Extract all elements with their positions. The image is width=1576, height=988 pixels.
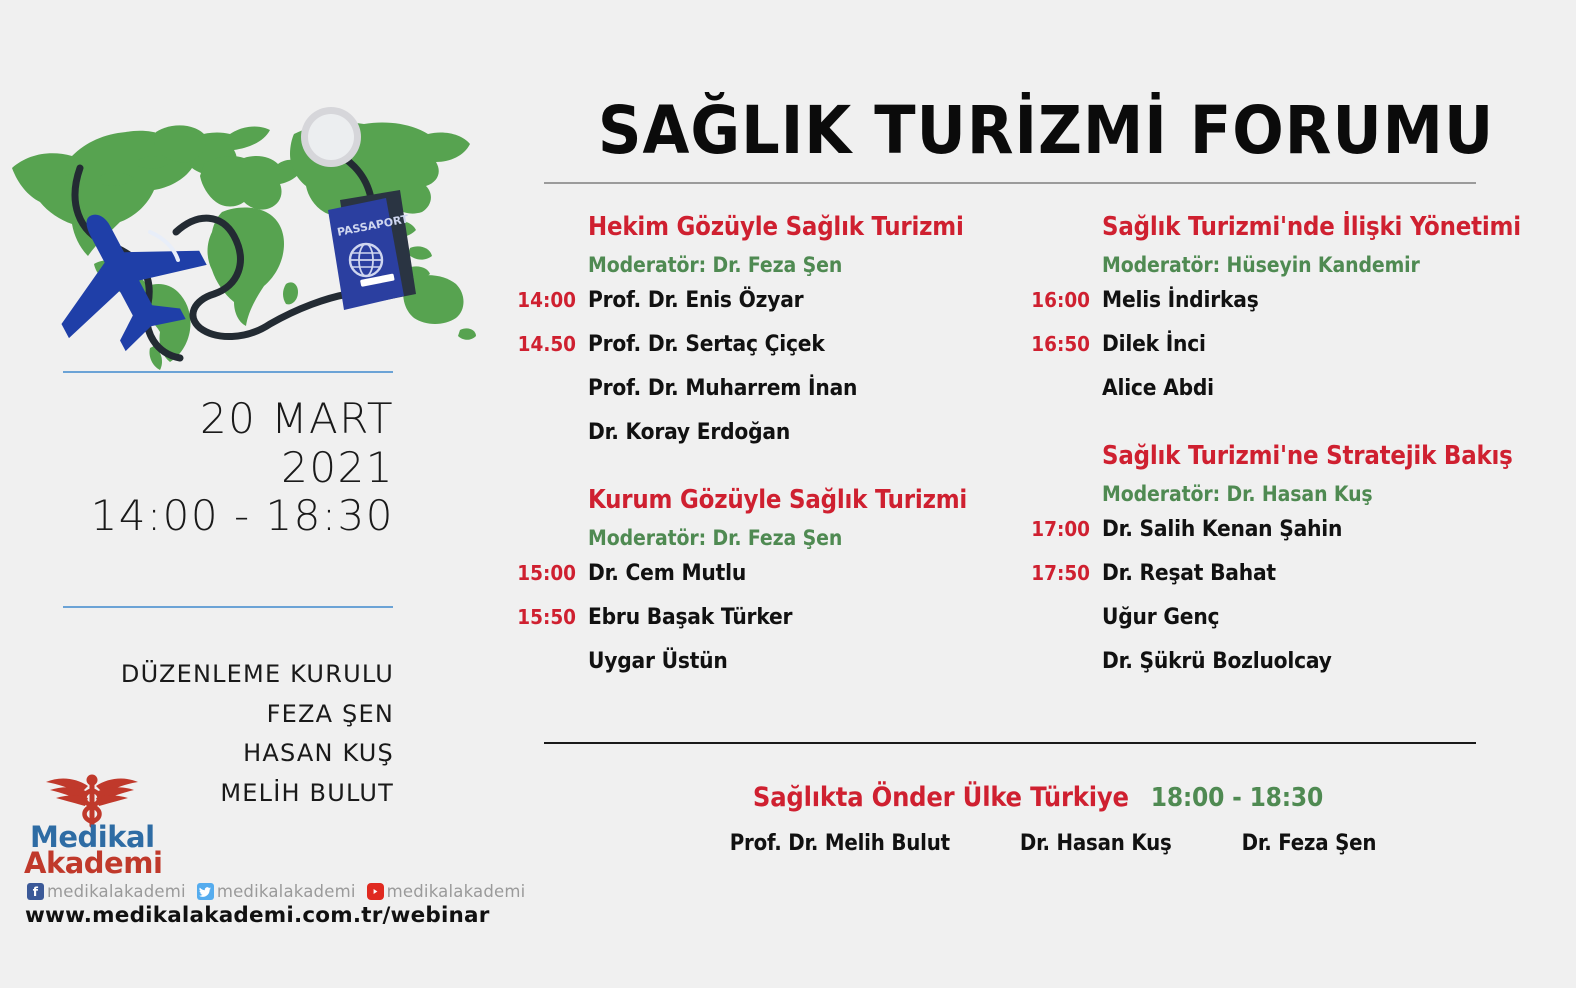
speaker-list: 16:00 Melis İndirkaş 16:50 Dilek İnci Al…: [1028, 287, 1528, 419]
speaker-name: Dr. Şükrü Bozluolcay: [1102, 648, 1332, 674]
speaker-name: Prof. Dr. Sertaç Çiçek: [588, 331, 825, 357]
divider-bottom: [544, 742, 1476, 744]
session-block: Sağlık Turizmi'nde İlişki Yönetimi Moder…: [1028, 212, 1528, 419]
logo-word-akademi: Akademi: [24, 846, 162, 880]
closing-person: Dr. Feza Şen: [1242, 831, 1377, 856]
speaker-name: Prof. Dr. Muharrem İnan: [588, 375, 857, 401]
session-title: Sağlık Turizmi'nde İlişki Yönetimi: [1102, 212, 1528, 244]
speaker-time: 14:00: [514, 288, 588, 312]
speaker-row: 14:00 Prof. Dr. Enis Özyar: [514, 287, 1014, 331]
speaker-row: Dr. Şükrü Bozluolcay: [1028, 648, 1528, 692]
speaker-row: 14.50 Prof. Dr. Sertaç Çiçek: [514, 331, 1014, 375]
session-title: Sağlık Turizmi'ne Stratejik Bakış: [1102, 441, 1528, 473]
date-line-1: 20 MART: [20, 395, 394, 444]
speaker-list: 14:00 Prof. Dr. Enis Özyar 14.50 Prof. D…: [514, 287, 1014, 463]
twitter-icon: [197, 883, 214, 900]
speaker-name: Prof. Dr. Enis Özyar: [588, 287, 803, 313]
speaker-name: Dilek İnci: [1102, 331, 1206, 357]
speaker-list: 15:00 Dr. Cem Mutlu 15:50 Ebru Başak Tür…: [514, 560, 1014, 692]
speaker-row: Dr. Koray Erdoğan: [514, 419, 1014, 463]
speaker-name: Uğur Genç: [1102, 604, 1219, 630]
session-title: Hekim Gözüyle Sağlık Turizmi: [588, 212, 1014, 244]
speaker-time: 17:50: [1028, 561, 1102, 585]
poster-canvas: PASSAPORT 20 MART 2021: [0, 0, 1576, 988]
page-title: SAĞLIK TURİZMİ FORUMU: [567, 92, 1526, 169]
session-moderator: Moderatör: Dr. Hasan Kuş: [1102, 482, 1528, 506]
speaker-name: Dr. Koray Erdoğan: [588, 419, 790, 445]
date-line-2: 2021: [20, 444, 394, 493]
speaker-row: 17:00 Dr. Salih Kenan Şahin: [1028, 516, 1528, 560]
speaker-time: 15:00: [514, 561, 588, 585]
divider-top: [544, 182, 1476, 184]
program-column-2: Sağlık Turizmi'nde İlişki Yönetimi Moder…: [1028, 212, 1528, 698]
speaker-row: 16:50 Dilek İnci: [1028, 331, 1528, 375]
speaker-row: 15:00 Dr. Cem Mutlu: [514, 560, 1014, 604]
speaker-row: 16:00 Melis İndirkaş: [1028, 287, 1528, 331]
facebook-icon: f: [27, 883, 44, 900]
speaker-time: 14.50: [514, 332, 588, 356]
committee-heading: DÜZENLEME KURULU: [20, 655, 394, 695]
speaker-row: Uğur Genç: [1028, 604, 1528, 648]
program-columns: Hekim Gözüyle Sağlık Turizmi Moderatör: …: [500, 212, 1576, 732]
divider-blue-top: [63, 371, 393, 373]
youtube-icon: [367, 883, 384, 900]
speaker-list: 17:00 Dr. Salih Kenan Şahin 17:50 Dr. Re…: [1028, 516, 1528, 692]
facebook-handle: medikalakademi: [47, 882, 186, 901]
social-twitter[interactable]: medikalakademi: [197, 882, 356, 901]
session-title: Kurum Gözüyle Sağlık Turizmi: [588, 485, 1014, 517]
medikal-akademi-logo: Medikal Akademi: [22, 770, 162, 875]
stethoscope-diaphragm: [301, 107, 361, 167]
speaker-name: Dr. Reşat Bahat: [1102, 560, 1276, 586]
closing-header: Sağlıkta Önder Ülke Türkiye 18:00 - 18:3…: [500, 782, 1576, 813]
social-facebook[interactable]: f medikalakademi: [27, 882, 186, 901]
speaker-name: Dr. Salih Kenan Şahin: [1102, 516, 1342, 542]
session-block: Kurum Gözüyle Sağlık Turizmi Moderatör: …: [514, 485, 1014, 692]
speaker-time: 15:50: [514, 605, 588, 629]
committee-member: HASAN KUŞ: [20, 734, 394, 774]
twitter-handle: medikalakademi: [217, 882, 356, 901]
speaker-name: Melis İndirkaş: [1102, 287, 1259, 313]
closing-person: Prof. Dr. Melih Bulut: [730, 831, 950, 856]
program-column-1: Hekim Gözüyle Sağlık Turizmi Moderatör: …: [514, 212, 1014, 698]
session-moderator: Moderatör: Dr. Feza Şen: [588, 526, 1014, 550]
date-line-3: 14:00 - 18:30: [20, 492, 394, 541]
speaker-name: Ebru Başak Türker: [588, 604, 792, 630]
speaker-time: 16:00: [1028, 288, 1102, 312]
left-panel: PASSAPORT 20 MART 2021: [0, 0, 500, 988]
speaker-row: Alice Abdi: [1028, 375, 1528, 419]
right-panel: SAĞLIK TURİZMİ FORUMU Hekim Gözüyle Sağl…: [500, 0, 1576, 988]
speaker-row: 15:50 Ebru Başak Türker: [514, 604, 1014, 648]
divider-blue-bottom: [63, 606, 393, 608]
world-map-illustration: PASSAPORT: [8, 72, 488, 372]
closing-people: Prof. Dr. Melih Bulut Dr. Hasan Kuş Dr. …: [500, 831, 1576, 856]
speaker-row: 17:50 Dr. Reşat Bahat: [1028, 560, 1528, 604]
speaker-name: Alice Abdi: [1102, 375, 1214, 401]
speaker-row: Uygar Üstün: [514, 648, 1014, 692]
speaker-row: Prof. Dr. Muharrem İnan: [514, 375, 1014, 419]
website-url[interactable]: www.medikalakademi.com.tr/webinar: [25, 903, 490, 928]
session-moderator: Moderatör: Hüseyin Kandemir: [1102, 253, 1528, 277]
closing-time: 18:00 - 18:30: [1151, 783, 1323, 813]
closing-title: Sağlıkta Önder Ülke Türkiye: [753, 782, 1129, 813]
session-moderator: Moderatör: Dr. Feza Şen: [588, 253, 1014, 277]
committee-member: FEZA ŞEN: [20, 695, 394, 735]
speaker-name: Dr. Cem Mutlu: [588, 560, 746, 586]
social-handles-row: f medikalakademi medikalakademi medikala…: [27, 882, 536, 901]
event-date-block: 20 MART 2021 14:00 - 18:30: [20, 395, 394, 541]
closing-person: Dr. Hasan Kuş: [1020, 831, 1172, 856]
speaker-name: Uygar Üstün: [588, 648, 728, 674]
session-block: Hekim Gözüyle Sağlık Turizmi Moderatör: …: [514, 212, 1014, 463]
speaker-time: 16:50: [1028, 332, 1102, 356]
session-block: Sağlık Turizmi'ne Stratejik Bakış Modera…: [1028, 441, 1528, 692]
speaker-time: 17:00: [1028, 517, 1102, 541]
closing-session: Sağlıkta Önder Ülke Türkiye 18:00 - 18:3…: [500, 782, 1576, 856]
